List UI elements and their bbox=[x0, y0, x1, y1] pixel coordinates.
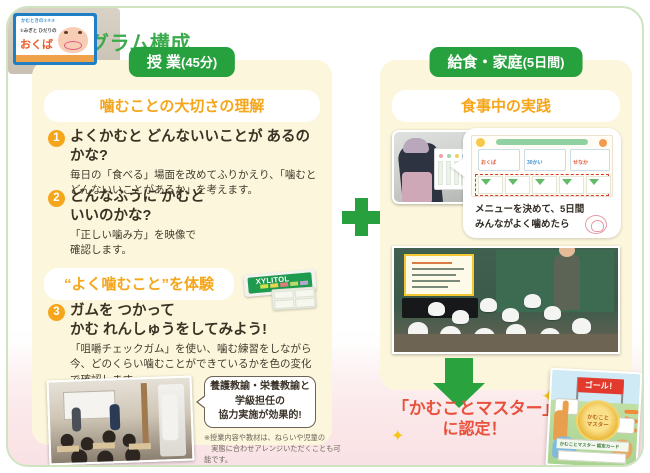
lunch-menu-screen bbox=[404, 254, 474, 296]
tablet-face-illustration bbox=[58, 27, 88, 53]
gum-tablets bbox=[271, 286, 316, 310]
plus-icon bbox=[342, 198, 380, 236]
right-subhead-practice: 食事中の実践 bbox=[392, 90, 620, 122]
record-sheet-image: おくば 30かい せなか bbox=[471, 135, 613, 197]
photo-lunch-classroom bbox=[392, 246, 620, 354]
step-3-title: ガムを つかって かむ れんしゅうをしてみよう! bbox=[70, 302, 267, 339]
left-panel-tab-duration: (45分) bbox=[181, 55, 217, 70]
left-subhead-understanding: 噛むことの大切さの理解 bbox=[44, 90, 320, 122]
tablet-subtitle: ①みぎと ひだりの bbox=[20, 28, 57, 34]
tablet-screen-content: かむときの①②③ ①みぎと ひだりの おくば bbox=[16, 16, 94, 62]
left-panel-tab-main: 授 業 bbox=[147, 54, 181, 71]
infographic-frame: プログラム構成 授 業(45分) 噛むことの大切さの理解 1 よくかむと どんな… bbox=[6, 6, 644, 467]
record-sheet-grid bbox=[475, 174, 609, 196]
step-1-number: 1 bbox=[48, 130, 65, 147]
certification-text: 「かむことマスター」 に認定！ bbox=[392, 398, 557, 441]
certification-line1: 「かむことマスター」 bbox=[392, 398, 557, 420]
left-subhead-experience: “よく噛むこと”を体験 bbox=[44, 268, 234, 300]
step-2-title: どんなふうに かむと いいのかな? bbox=[70, 188, 205, 225]
sparkle-icon-2: ✦ bbox=[391, 426, 404, 446]
footnote-note: ※授業内容や教材は、ねらいや児童の 実態に合わせアレンジいただくことも可能です。 bbox=[204, 432, 344, 465]
left-panel-tab: 授 業(45分) bbox=[129, 47, 235, 77]
right-panel-tab-main: 給食・家庭 bbox=[448, 54, 523, 71]
callout-collaboration: 養護教諭・栄養教諭と 学級担任の 協力実施が効果的! bbox=[204, 376, 316, 428]
tablet-keyword: おくば bbox=[20, 36, 53, 52]
photo-classroom-lesson bbox=[47, 375, 195, 465]
step-1-title: よくかむと どんないいことが あるのかな? bbox=[70, 128, 320, 165]
tablet-title: かむときの①②③ bbox=[21, 18, 55, 24]
step-2-number: 2 bbox=[48, 190, 65, 207]
certification-line2: に認定！ bbox=[392, 420, 557, 441]
callout-menu-bubble: おくば 30かい せなか メニューを決めて、5日間 みんながよく噛めたら bbox=[463, 128, 621, 238]
step-1-title-row: 1 よくかむと どんないいことが あるのかな? bbox=[48, 128, 320, 165]
photo-certificate: ゴール！ かむこと マスター かむことマスター 認定カード bbox=[545, 368, 642, 467]
step-3-number: 3 bbox=[48, 304, 65, 321]
step-2-title-row: 2 どんなふうに かむと いいのかな? bbox=[48, 188, 226, 225]
callout-text: 養護教諭・栄養教諭と 学級担任の 協力実施が効果的! bbox=[210, 380, 310, 424]
tablet-screen: かむときの①②③ ①みぎと ひだりの おくば bbox=[13, 13, 97, 65]
photo-xylitol-gum: XYLITOL bbox=[244, 272, 322, 310]
step-2-body: 「正しい噛み方」を映像で 確認します。 bbox=[48, 228, 226, 258]
stamp-rose-icon bbox=[585, 215, 607, 234]
certificate-medal-text: かむこと マスター bbox=[578, 414, 619, 429]
right-panel-tab-duration: (5日間) bbox=[523, 55, 565, 70]
step-2: 2 どんなふうに かむと いいのかな? 「正しい噛み方」を映像で 確認します。 bbox=[48, 188, 226, 259]
certificate-flag-label: ゴール！ bbox=[577, 377, 624, 394]
right-panel-tab: 給食・家庭(5日間) bbox=[430, 47, 583, 77]
